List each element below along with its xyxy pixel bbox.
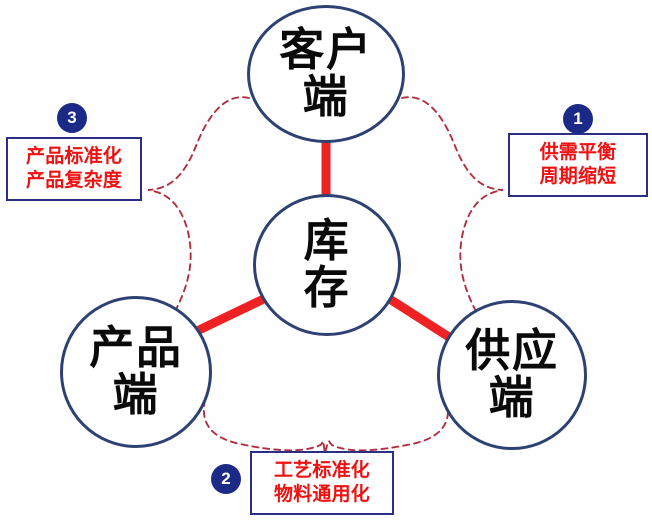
node-supply-line-2: 端 bbox=[489, 375, 536, 422]
annotation-box-2[interactable]: 工艺标准化 物料通用化 bbox=[250, 451, 394, 515]
node-inventory-line-1: 库 bbox=[304, 218, 351, 265]
node-client-line-1: 客户 bbox=[279, 27, 373, 74]
node-product-line-2: 端 bbox=[113, 372, 160, 419]
connector-inventory-product bbox=[197, 295, 272, 331]
brace-bottom bbox=[204, 400, 448, 453]
node-product[interactable]: 产品 端 bbox=[60, 296, 212, 448]
node-product-line-1: 产品 bbox=[89, 325, 183, 372]
annotation-box-1-line-2: 周期缩短 bbox=[540, 165, 617, 189]
badge-annotation-1-label: 1 bbox=[573, 109, 582, 129]
annotation-box-2-line-2: 物料通用化 bbox=[274, 483, 370, 507]
badge-annotation-3: 3 bbox=[57, 103, 87, 133]
badge-annotation-3-label: 3 bbox=[67, 108, 76, 128]
node-supply[interactable]: 供应 端 bbox=[437, 300, 587, 450]
connector-inventory-supply bbox=[385, 296, 449, 337]
node-supply-line-1: 供应 bbox=[465, 328, 559, 375]
annotation-box-2-line-1: 工艺标准化 bbox=[274, 459, 370, 483]
annotation-box-3[interactable]: 产品标准化 产品复杂度 bbox=[6, 137, 142, 201]
annotation-box-1[interactable]: 供需平衡 周期缩短 bbox=[508, 133, 648, 197]
badge-annotation-2-label: 2 bbox=[221, 469, 230, 489]
annotation-box-3-line-2: 产品复杂度 bbox=[26, 169, 122, 193]
node-client[interactable]: 客户 端 bbox=[247, 5, 405, 143]
diagram-canvas: 客户 端 库 存 产品 端 供应 端 1 供需平衡 周期缩短 3 产品标准化 产… bbox=[0, 0, 652, 521]
node-inventory[interactable]: 库 存 bbox=[253, 194, 401, 336]
badge-annotation-2: 2 bbox=[211, 464, 241, 494]
node-inventory-line-2: 存 bbox=[304, 265, 351, 312]
annotation-box-3-line-1: 产品标准化 bbox=[26, 145, 122, 169]
badge-annotation-1: 1 bbox=[563, 104, 593, 134]
annotation-box-1-line-1: 供需平衡 bbox=[540, 141, 617, 165]
node-client-line-2: 端 bbox=[303, 74, 350, 121]
